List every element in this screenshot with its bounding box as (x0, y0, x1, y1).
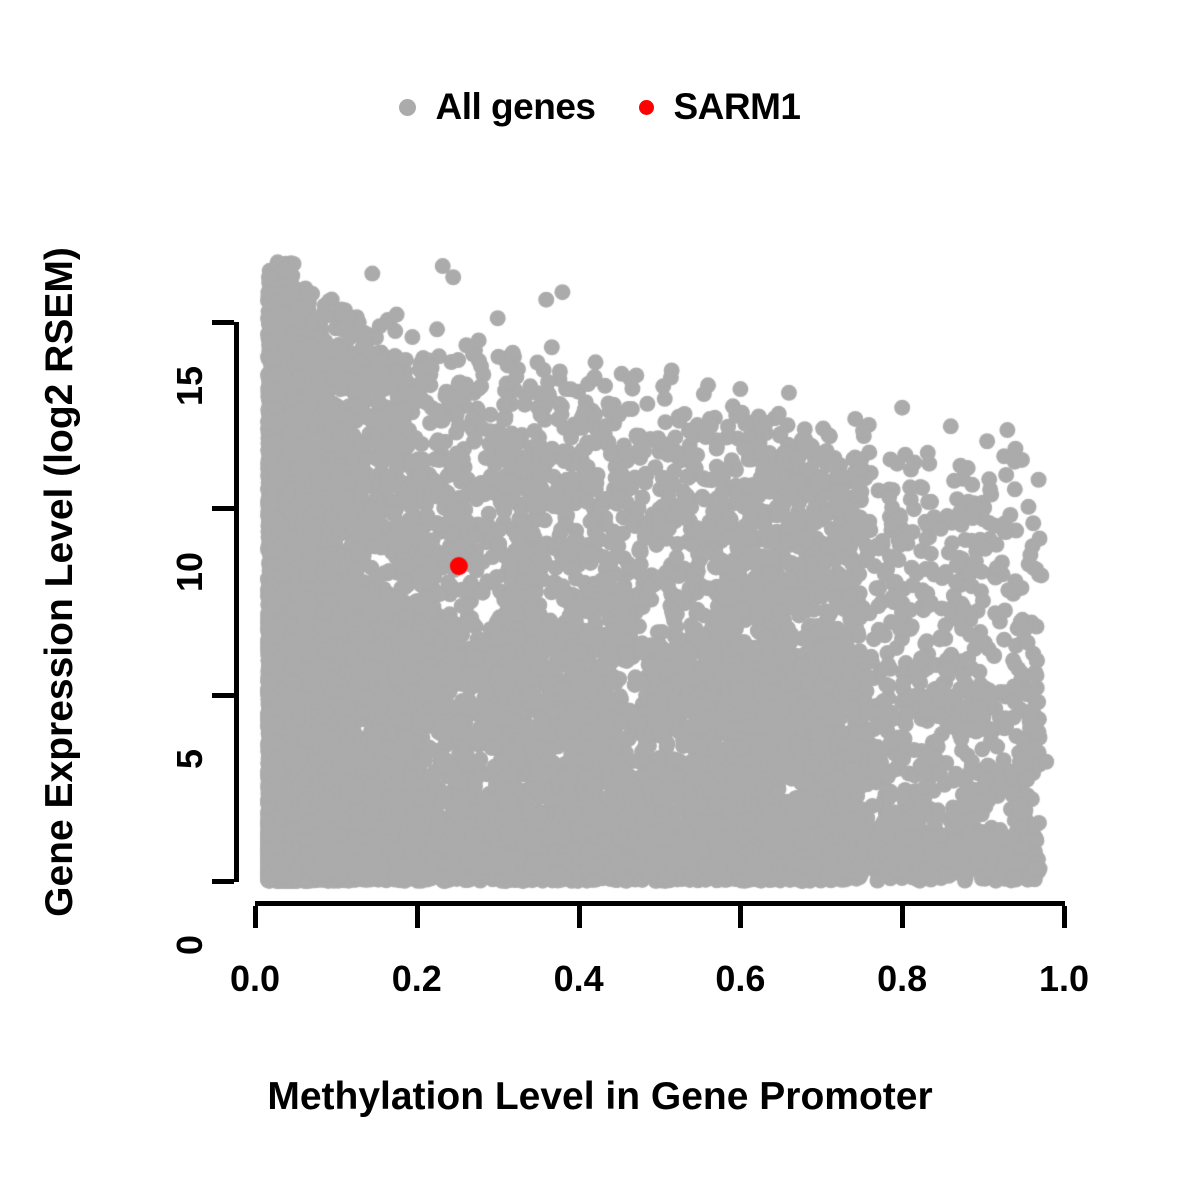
y-axis-line (234, 322, 239, 882)
x-axis-line (255, 901, 1065, 906)
x-tick-label: 0.0 (195, 958, 315, 1000)
y-axis-title: Gene Expression Level (log2 RSEM) (38, 202, 82, 962)
x-tick-mark (577, 906, 582, 928)
y-tick-mark (212, 506, 234, 511)
y-tick-label: 5 (169, 694, 211, 824)
x-tick-label: 0.8 (842, 958, 962, 1000)
x-axis-title: Methylation Level in Gene Promoter (0, 1075, 1200, 1119)
y-tick-mark (212, 693, 234, 698)
y-tick-mark (212, 320, 234, 325)
x-tick-mark (415, 906, 420, 928)
y-tick-mark (212, 879, 234, 884)
x-tick-label: 1.0 (1004, 958, 1124, 1000)
x-tick-label: 0.4 (519, 958, 639, 1000)
x-tick-mark (253, 906, 258, 928)
x-tick-mark (900, 906, 905, 928)
x-tick-label: 0.2 (357, 958, 477, 1000)
x-tick-mark (738, 906, 743, 928)
x-tick-mark (1062, 906, 1067, 928)
y-tick-label: 10 (169, 507, 211, 637)
scatter-plot-figure: All genes SARM1 051015 0.00.20.40.60.81.… (0, 0, 1200, 1200)
x-tick-label: 0.6 (680, 958, 800, 1000)
y-tick-label: 15 (169, 321, 211, 451)
